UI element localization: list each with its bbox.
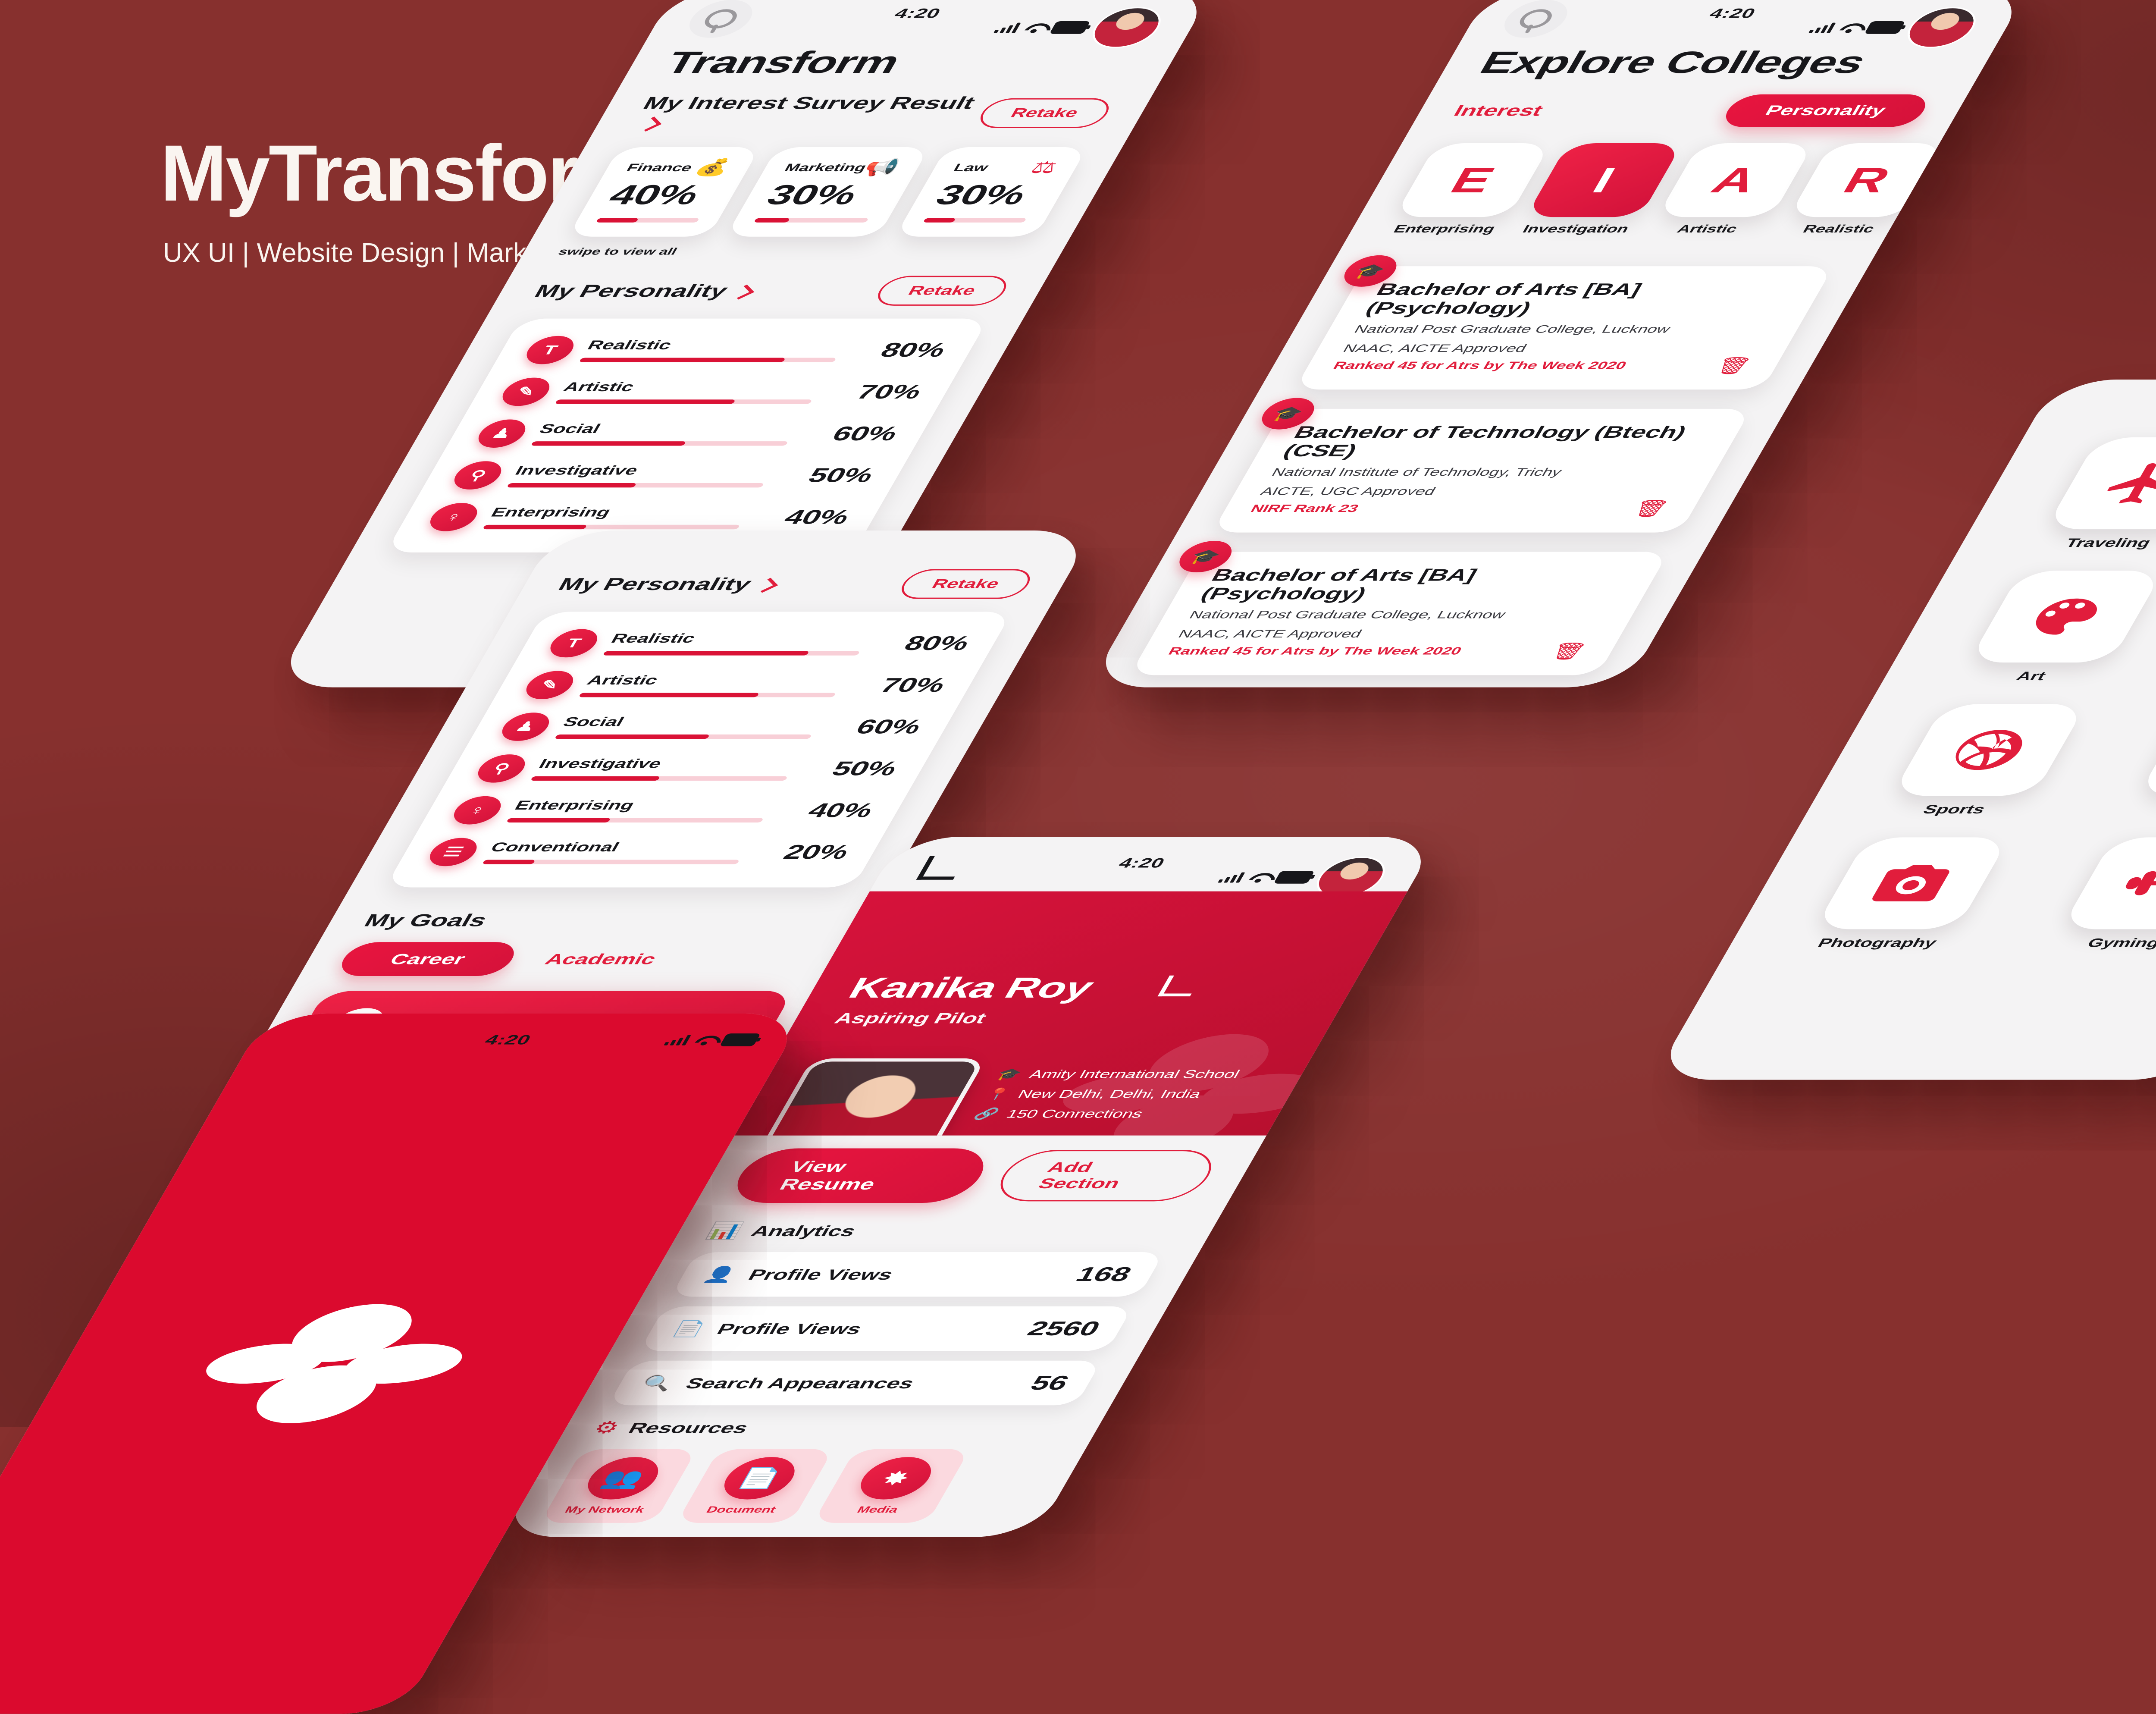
interest-card-progress — [754, 218, 868, 222]
interest-tile-label: Sports — [1920, 803, 1988, 817]
personality-list: T Realistic 80% ✎ Artistic 70% ♟ Social — [385, 319, 988, 552]
wifi-icon — [1023, 23, 1048, 32]
interest-card-progress — [923, 218, 1027, 222]
interest-card[interactable]: Finance 💰 40% — [568, 147, 761, 237]
search-icon: 🔍 — [637, 1374, 678, 1392]
location-pin-icon: 📍 — [983, 1087, 1013, 1101]
letter-tile-caption: Realistic — [1800, 223, 1877, 235]
personality-badge-icon: ♟ — [495, 713, 555, 741]
personality-row[interactable]: T Realistic 80% — [544, 629, 976, 658]
filter-tab-interest[interactable]: Interest — [1450, 102, 1547, 119]
profile-name: Kanika Roy — [842, 972, 1100, 1005]
interest-tile-label: Art — [2013, 670, 2049, 684]
college-approval: NAAC, AICTE Approved — [1340, 342, 1764, 356]
personality-label: Social — [536, 421, 800, 436]
status-time: 4:20 — [1706, 6, 1759, 21]
personality-row[interactable]: ♟ Social 60% — [495, 713, 928, 741]
bar-chart-icon: 📊 — [703, 1221, 746, 1240]
personality-value: 40% — [752, 505, 855, 528]
signal-icon — [664, 1034, 691, 1045]
personality-badge-icon: T — [544, 629, 604, 658]
file-icon: 📄 — [714, 1457, 805, 1499]
tab-academic[interactable]: Academic — [542, 950, 660, 967]
personality-label: Artistic — [584, 673, 848, 687]
personality-value: 50% — [776, 464, 878, 487]
letter-tile-caption: Investigation — [1520, 223, 1632, 235]
trash-icon[interactable]: 🗑 — [1546, 641, 1590, 661]
airplane-icon — [2045, 437, 2156, 529]
resource-tile-label: My Network — [563, 1504, 647, 1515]
profile-photo[interactable] — [747, 1058, 987, 1136]
college-rank: NIRF Rank 23 — [1248, 502, 1672, 514]
wifi-icon — [1838, 23, 1863, 32]
analytics-row-label: Profile Views — [745, 1266, 1068, 1283]
wifi-icon — [1247, 873, 1272, 882]
analytics-row-value: 56 — [1026, 1372, 1073, 1394]
edit-icon[interactable] — [1158, 976, 1202, 996]
analytics-row-value: 2560 — [1023, 1317, 1105, 1340]
personality-label: Social — [560, 715, 824, 729]
personality-badge-icon: ♀ — [423, 503, 483, 531]
personality-badge-icon: T — [520, 336, 580, 364]
letter-tile-row: E Enterprising I Investigation A Artisti… — [1383, 143, 1905, 235]
resource-tile-media[interactable]: ✸ Media — [813, 1449, 970, 1523]
personality-row[interactable]: ♟ Social 60% — [472, 419, 904, 448]
college-title: Bachelor of Arts [BA] (Psychology) — [1362, 280, 1799, 318]
signal-icon — [993, 22, 1021, 33]
butterfly-logo — [157, 1280, 512, 1447]
analytics-row[interactable]: 👤 Profile Views 168 — [671, 1252, 1164, 1297]
interest-tile-art[interactable]: Art — [1921, 571, 2156, 683]
personality-badge-icon: ⚲ — [448, 461, 508, 490]
personality-value: 50% — [799, 757, 902, 780]
college-card-list: 🎓 Bachelor of Arts [BA] (Psychology) Nat… — [1130, 266, 1834, 675]
personality-badge-icon: ✎ — [520, 671, 580, 699]
analytics-row-label: Search Appearances — [682, 1374, 1022, 1391]
search-button[interactable] — [680, 0, 761, 38]
palette-icon — [1968, 571, 2156, 662]
status-indicators — [663, 1033, 761, 1046]
letter-tile: A — [1657, 143, 1814, 217]
letter-tile-caption: Enterprising — [1391, 223, 1498, 235]
person-icon: 👤 — [700, 1265, 741, 1284]
people-icon: 👥 — [578, 1457, 668, 1499]
personality-row[interactable]: T Realistic 80% — [520, 336, 953, 364]
gamepad-icon — [2137, 704, 2156, 796]
college-rank: Ranked 45 for Atrs by The Week 2020 — [1331, 359, 1754, 371]
interest-card[interactable]: Marketing 📢 30% — [726, 147, 930, 237]
interest-tile-gyming[interactable]: Gyming — [2014, 837, 2156, 950]
graduation-cap-icon: 🎓 — [994, 1067, 1025, 1081]
scales-icon: ⚖ — [1028, 159, 1060, 176]
college-institution: National Post Graduate College, Lucknow — [1186, 608, 1611, 622]
resource-tile-label: Media — [855, 1504, 900, 1515]
screen-title: Transform — [658, 45, 1147, 80]
college-institution: National Institute of Technology, Trichy — [1268, 465, 1693, 480]
interest-tile-grid: Traveling Eating Art — [1767, 437, 2156, 950]
battery-icon — [1049, 21, 1091, 34]
personality-badge-icon: ☰ — [423, 838, 483, 866]
personality-value: 70% — [848, 674, 950, 697]
personality-label: Investigative — [512, 463, 776, 478]
status-indicators — [985, 7, 1170, 48]
trash-icon[interactable]: 🗑 — [1711, 356, 1755, 375]
analytics-row[interactable]: 🔍 Search Appearances 56 — [608, 1361, 1102, 1406]
resource-tile-document[interactable]: 📄 Document — [677, 1449, 834, 1523]
personality-badge-icon: ♟ — [472, 419, 532, 448]
personality-value: 60% — [824, 716, 926, 738]
screen-title: Explore Colleges — [1473, 45, 1962, 80]
chevron-right-icon — [638, 116, 661, 132]
letter-tile: R — [1788, 143, 1945, 217]
resource-tile-my-network[interactable]: 👥 My Network — [540, 1449, 697, 1523]
interest-tile-sports[interactable]: Sports — [1844, 704, 2121, 816]
personality-value: 70% — [824, 380, 927, 403]
interest-tile-label: Gyming — [2084, 936, 2156, 950]
personality-label: Enterprising — [512, 798, 775, 813]
college-card[interactable]: 🎓 Bachelor of Arts [BA] (Psychology) Nat… — [1130, 552, 1669, 675]
personality-value: 80% — [872, 632, 975, 655]
battery-icon — [719, 1033, 761, 1046]
college-approval: AICTE, UGC Approved — [1257, 484, 1682, 499]
personality-row[interactable]: ✎ Artistic 70% — [520, 671, 952, 699]
personality-label: Enterprising — [488, 505, 752, 520]
back-icon[interactable] — [916, 856, 967, 880]
personality-label: Realistic — [585, 338, 848, 353]
resource-tile-label: Document — [704, 1504, 778, 1515]
status-bar: 4:20 — [870, 837, 1439, 892]
status-time: 4:20 — [891, 6, 944, 21]
dumbbell-icon — [2060, 837, 2156, 929]
analytics-row-value: 168 — [1072, 1263, 1136, 1286]
basketball-icon — [1891, 704, 2086, 796]
interest-tile-label: Photography — [1815, 936, 1940, 950]
personality-section-heading: My Personality — [531, 281, 758, 301]
personality-badge-icon: ⚲ — [471, 754, 531, 783]
status-time: 4:20 — [482, 1032, 534, 1048]
college-card[interactable]: 🎓 Bachelor of Arts [BA] (Psychology) Nat… — [1294, 266, 1834, 389]
resource-tile-list: 👥 My Network 📄 Document ✸ Media — [540, 1449, 1050, 1523]
status-bar: 4:20 — [1460, 0, 2030, 42]
status-indicators — [1800, 7, 1985, 48]
personality-value: 80% — [848, 339, 951, 361]
money-bag-icon: 💰 — [692, 159, 733, 176]
search-icon — [700, 9, 741, 28]
interest-card-value: 30% — [761, 179, 891, 211]
letter-tile-caption: Artistic — [1674, 223, 1740, 235]
retake-personality-button[interactable]: Retake — [871, 276, 1013, 306]
interest-card-value: 40% — [602, 179, 722, 211]
trash-icon[interactable]: 🗑 — [1629, 499, 1673, 518]
college-title: Bachelor of Technology (Btech) (CSE) — [1279, 423, 1717, 461]
gear-refresh-icon: ⚙ — [589, 1418, 624, 1438]
share-icon: ✸ — [851, 1457, 941, 1499]
status-bar: 4:20 — [646, 0, 1215, 42]
chevron-right-icon — [755, 578, 778, 593]
interest-tile-traveling[interactable]: Traveling — [1998, 437, 2156, 550]
interest-tile-label: Traveling — [2062, 536, 2153, 550]
interest-section-heading: My Interest Survey Result — [628, 93, 994, 133]
retake-personality-button[interactable]: Retake — [895, 569, 1037, 599]
letter-tile: I — [1526, 143, 1683, 217]
college-approval: NAAC, AICTE Approved — [1175, 627, 1600, 642]
battery-icon — [1864, 21, 1905, 34]
personality-badge-icon: ♀ — [447, 796, 507, 825]
college-institution: National Post Graduate College, Lucknow — [1351, 322, 1775, 337]
battery-icon — [1273, 871, 1315, 884]
view-resume-button[interactable]: View Resume — [725, 1148, 997, 1203]
analytics-row-label: Profile Views — [714, 1320, 1019, 1337]
search-icon — [1515, 9, 1556, 28]
personality-row[interactable]: ⚲ Investigative 50% — [471, 754, 904, 783]
analytics-heading: Analytics — [748, 1222, 859, 1239]
personality-row[interactable]: ✎ Artistic 70% — [496, 378, 928, 406]
personality-row[interactable]: ☰ Conventional 20% — [423, 838, 856, 866]
personality-row[interactable]: ♀ Enterprising 40% — [447, 796, 880, 825]
profile-role: Aspiring Pilot — [831, 1010, 990, 1027]
personality-row[interactable]: ⚲ Investigative 50% — [448, 461, 880, 490]
search-button[interactable] — [1495, 0, 1576, 38]
goal-tabs: Career Academic — [334, 942, 821, 976]
status-time: 4:20 — [1116, 855, 1168, 871]
analytics-row-list: 👤 Profile Views 168 📄 Profile Views 2560… — [608, 1252, 1165, 1405]
camera-icon — [1814, 837, 2009, 929]
interest-card-progress — [596, 218, 700, 222]
interest-card-value: 30% — [930, 179, 1049, 211]
personality-value: 60% — [800, 422, 903, 445]
wifi-icon — [693, 1035, 718, 1045]
interest-card-name: Marketing — [782, 161, 869, 174]
interest-card[interactable]: Law ⚖ 30% — [895, 147, 1087, 237]
signal-icon — [1218, 872, 1245, 882]
interest-card-name: Law — [951, 161, 991, 174]
signal-icon — [1808, 22, 1836, 33]
analytics-row[interactable]: 📄 Profile Views 2560 — [639, 1306, 1133, 1351]
goals-section-heading: My Goals — [360, 910, 840, 930]
interest-card-name: Finance — [624, 161, 695, 174]
swipe-hint: swipe to view all — [556, 246, 1030, 257]
college-title: Bachelor of Arts [BA] (Psychology) — [1197, 566, 1635, 603]
personality-badge-icon: ✎ — [496, 378, 556, 406]
personality-value: 20% — [752, 841, 854, 863]
college-card[interactable]: 🎓 Bachelor of Technology (Btech) (CSE) N… — [1212, 409, 1752, 532]
tab-career[interactable]: Career — [334, 942, 522, 976]
personality-label: Investigative — [536, 757, 799, 771]
resources-heading: Resources — [625, 1419, 752, 1436]
personality-row[interactable]: ♀ Enterprising 40% — [423, 503, 856, 531]
document-icon: 📄 — [669, 1319, 709, 1337]
personality-label: Artistic — [561, 380, 824, 394]
status-bar: 4:20 — [236, 1014, 805, 1068]
interest-card-list: Finance 💰 40% Marketing 📢 30% Law ⚖ — [568, 147, 1087, 237]
phone-mockup-scene: 4:20 Transform My Interest Survey Result… — [0, 0, 2156, 1427]
letter-tile: E — [1394, 143, 1551, 217]
personality-label: Realistic — [608, 631, 872, 646]
phone-explore-colleges: 4:20 Explore Colleges Interest Personali… — [1088, 0, 2030, 687]
personality-section-heading: My Personality — [555, 574, 781, 594]
college-rank: Ranked 45 for Atrs by The Week 2020 — [1166, 645, 1589, 657]
screen-explore-colleges: 4:20 Explore Colleges Interest Personali… — [1088, 0, 2030, 687]
link-icon: 🔗 — [971, 1107, 1002, 1121]
personality-label: Conventional — [488, 840, 751, 855]
personality-value: 40% — [776, 799, 878, 822]
retake-interest-button[interactable]: Retake — [974, 98, 1116, 128]
interest-tile-photography[interactable]: Photography — [1767, 837, 2044, 950]
filter-tab-personality[interactable]: Personality — [1718, 94, 1933, 127]
add-section-button[interactable]: Add Section — [989, 1150, 1223, 1201]
chevron-right-icon — [731, 285, 755, 300]
